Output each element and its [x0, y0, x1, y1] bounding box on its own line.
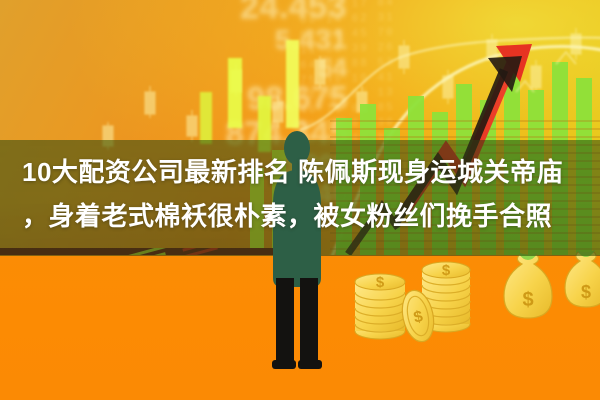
- dollar-sign-icon: $: [522, 289, 533, 311]
- money-bag-right: $: [565, 250, 600, 307]
- dollar-sign-icon: $: [442, 262, 451, 279]
- dollar-sign-icon: $: [581, 282, 591, 302]
- article-thumbnail-image: 32 51 17 84 08 14 62 31 97 23 45 70 11 5…: [0, 0, 600, 400]
- coin-stack-left: $: [355, 274, 405, 339]
- headline-line-1: 10大配资公司最新排名 陈佩斯现身运城关帝庙: [22, 150, 578, 194]
- headline-text: 10大配资公司最新排名 陈佩斯现身运城关帝庙 ，身着老式棉袄很朴素，被女粉丝们挽…: [0, 150, 600, 238]
- headline-line-2: ，身着老式棉袄很朴素，被女粉丝们挽手合照: [22, 194, 578, 238]
- money-bag-left: $: [504, 252, 552, 318]
- dollar-sign-icon: $: [376, 274, 385, 291]
